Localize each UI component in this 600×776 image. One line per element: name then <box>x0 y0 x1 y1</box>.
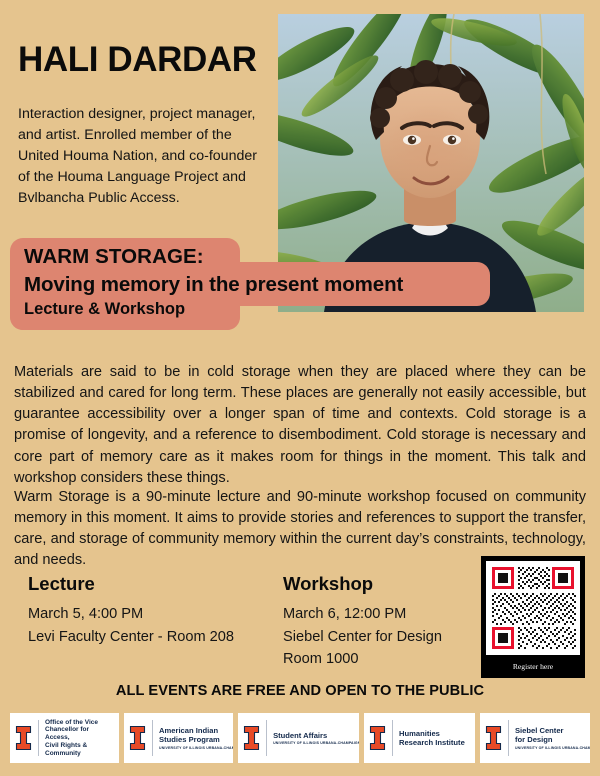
event-title: Lecture <box>28 573 283 595</box>
illinois-block-i-icon <box>243 725 260 751</box>
logo-text: Humanities Research Institute <box>399 729 465 748</box>
sponsor-logo-student-affairs: Student Affairs UNIVERSITY OF ILLINOIS U… <box>238 713 359 763</box>
qr-caption: Register here <box>486 655 580 678</box>
banner-title: WARM STORAGE: <box>24 243 494 271</box>
speaker-bio: Interaction designer, project manager, a… <box>18 104 268 209</box>
logo-text: Siebel Center for Design UNIVERSITY OF I… <box>515 726 585 750</box>
logo-subtitle: UNIVERSITY OF ILLINOIS URBANA-CHAMPAIGN <box>159 746 228 750</box>
qr-code-card[interactable]: Register here <box>481 556 585 678</box>
logo-divider <box>152 720 153 756</box>
logo-name: Humanities Research Institute <box>399 729 465 748</box>
event-title: Workshop <box>283 573 468 595</box>
banner-format: Lecture & Workshop <box>24 298 494 320</box>
logo-divider <box>38 720 39 756</box>
logo-divider <box>266 720 267 756</box>
logo-name: Office of the Vice Chancellor for Access… <box>45 719 114 758</box>
description-paragraph-1: Materials are said to be in cold storage… <box>14 362 586 489</box>
event-workshop: Workshop March 6, 12:00 PM Siebel Center… <box>283 573 468 671</box>
sponsor-logo-siebel-center-for-design: Siebel Center for Design UNIVERSITY OF I… <box>480 713 590 763</box>
qr-code-image[interactable] <box>486 561 580 655</box>
illinois-block-i-icon <box>485 725 502 751</box>
event-datetime: March 6, 12:00 PM <box>283 603 468 626</box>
logo-name: Student Affairs <box>273 731 354 740</box>
event-location-line1: Levi Faculty Center - Room 208 <box>28 626 283 649</box>
illinois-block-i-icon <box>129 725 146 751</box>
logo-divider <box>392 720 393 756</box>
logo-subtitle: UNIVERSITY OF ILLINOIS URBANA-CHAMPAIGN <box>273 741 354 745</box>
sponsor-logo-bar: Office of the Vice Chancellor for Access… <box>10 713 590 763</box>
logo-text: Office of the Vice Chancellor for Access… <box>45 719 114 758</box>
free-admission-notice: ALL EVENTS ARE FREE AND OPEN TO THE PUBL… <box>0 683 600 699</box>
illinois-block-i-icon <box>15 725 32 751</box>
banner-text: WARM STORAGE: Moving memory in the prese… <box>24 243 494 320</box>
event-lecture: Lecture March 5, 4:00 PM Levi Faculty Ce… <box>28 573 283 671</box>
event-location-line1: Siebel Center for Design <box>283 626 468 649</box>
logo-name: Siebel Center for Design <box>515 726 585 745</box>
event-details: Lecture March 5, 4:00 PM Levi Faculty Ce… <box>28 573 468 671</box>
sponsor-logo-humanities-research-institute: Humanities Research Institute <box>364 713 475 763</box>
event-location-line2: Room 1000 <box>283 648 468 671</box>
logo-name: American Indian Studies Program <box>159 726 228 745</box>
speaker-name: HALI DARDAR <box>18 42 280 79</box>
logo-subtitle: UNIVERSITY OF ILLINOIS URBANA-CHAMPAIGN <box>515 746 585 750</box>
illinois-block-i-icon <box>369 725 386 751</box>
logo-text: American Indian Studies Program UNIVERSI… <box>159 726 228 750</box>
title-banner: WARM STORAGE: Moving memory in the prese… <box>10 238 490 330</box>
poster: HALI DARDAR Interaction designer, projec… <box>0 0 600 776</box>
banner-subtitle: Moving memory in the present moment <box>24 271 494 298</box>
event-datetime: March 5, 4:00 PM <box>28 603 283 626</box>
logo-divider <box>508 720 509 756</box>
sponsor-logo-american-indian-studies: American Indian Studies Program UNIVERSI… <box>124 713 233 763</box>
logo-text: Student Affairs UNIVERSITY OF ILLINOIS U… <box>273 731 354 746</box>
sponsor-logo-office-vice-chancellor: Office of the Vice Chancellor for Access… <box>10 713 119 763</box>
